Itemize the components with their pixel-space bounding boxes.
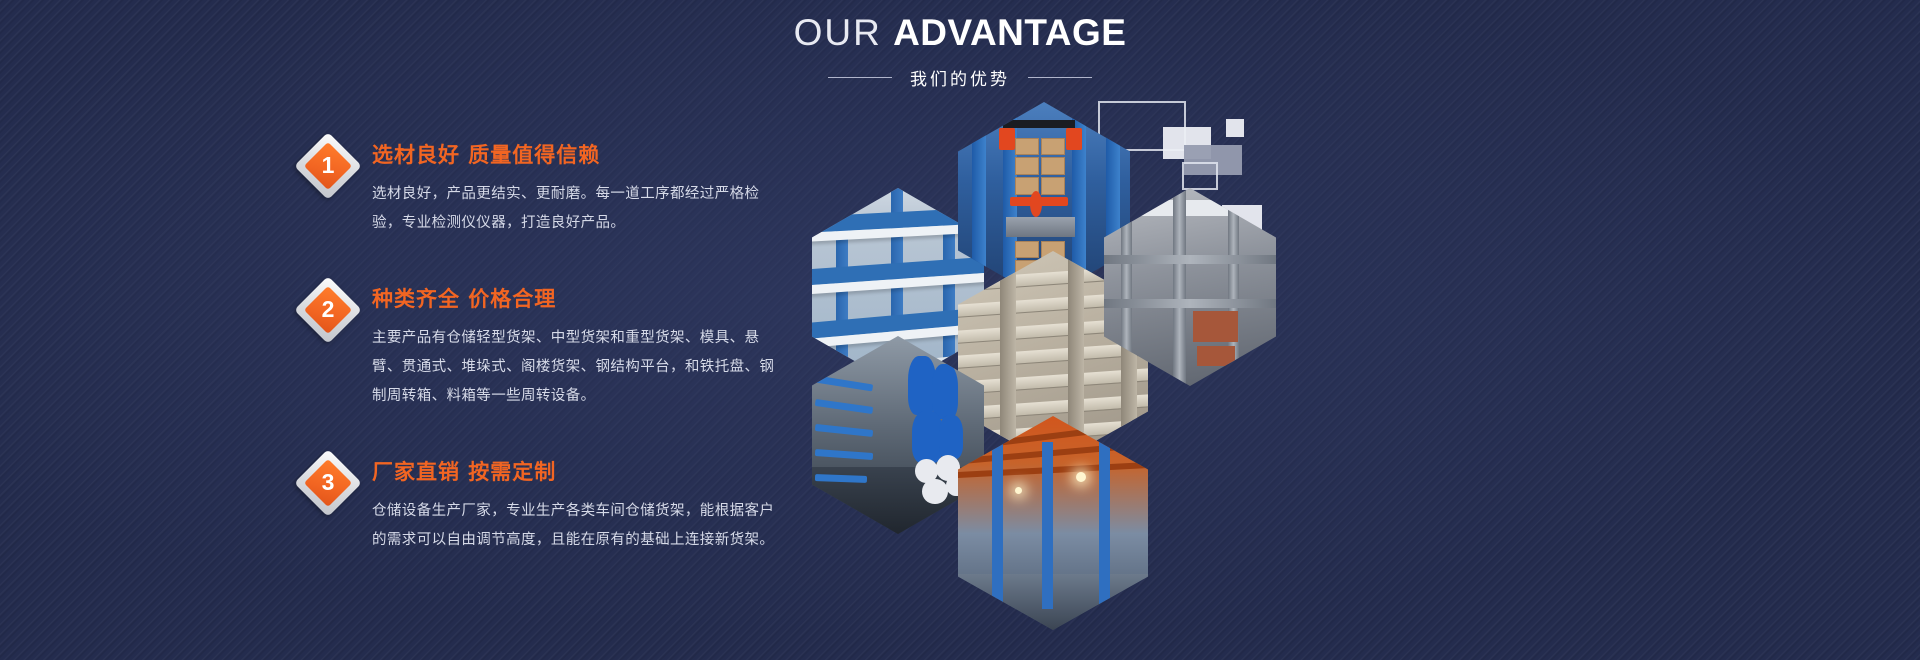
photo-warehouse-interior bbox=[958, 416, 1148, 630]
subtitle-row: 我们的优势 bbox=[0, 65, 1920, 90]
advantage-item-1: 1 选材良好 质量值得信赖 选材良好，产品更结实、更耐磨。每一道工序都经过严格检… bbox=[300, 136, 800, 238]
section-header: OUR ADVANTAGE 我们的优势 bbox=[0, 14, 1920, 90]
subtitle-rule-right bbox=[1028, 77, 1092, 78]
hex-photo-warehouse-interior bbox=[958, 416, 1148, 630]
page-title: OUR ADVANTAGE bbox=[0, 14, 1920, 53]
badge-number: 3 bbox=[300, 455, 356, 511]
page-title-light: OUR bbox=[794, 12, 882, 53]
number-badge-3: 3 bbox=[300, 455, 356, 511]
badge-number: 2 bbox=[300, 282, 356, 338]
advantage-item-3: 3 厂家直销 按需定制 仓储设备生产厂家，专业生产各类车间仓储货架，能根据客户的… bbox=[300, 453, 800, 555]
advantage-body-3: 仓储设备生产厂家，专业生产各类车间仓储货架，能根据客户的需求可以自由调节高度，且… bbox=[372, 497, 777, 555]
advantage-heading-3: 厂家直销 按需定制 bbox=[372, 456, 800, 486]
subtitle-rule-left bbox=[828, 77, 892, 78]
advantage-heading-2: 种类齐全 价格合理 bbox=[372, 283, 800, 313]
advantage-heading-1: 选材良好 质量值得信赖 bbox=[372, 139, 800, 169]
page-subtitle: 我们的优势 bbox=[910, 65, 1010, 90]
advantage-item-2: 2 种类齐全 价格合理 主要产品有仓储轻型货架、中型货架和重型货架、模具、悬臂、… bbox=[300, 280, 800, 411]
badge-number: 1 bbox=[300, 138, 356, 194]
advantage-text-2: 种类齐全 价格合理 主要产品有仓储轻型货架、中型货架和重型货架、模具、悬臂、贯通… bbox=[372, 280, 800, 411]
number-badge-2: 2 bbox=[300, 282, 356, 338]
advantage-text-3: 厂家直销 按需定制 仓储设备生产厂家，专业生产各类车间仓储货架，能根据客户的需求… bbox=[372, 453, 800, 555]
number-badge-1: 1 bbox=[300, 138, 356, 194]
hexagon-photo-cluster bbox=[790, 88, 1210, 548]
advantage-text-1: 选材良好 质量值得信赖 选材良好，产品更结实、更耐磨。每一道工序都经过严格检验，… bbox=[372, 136, 800, 238]
advantage-body-1: 选材良好，产品更结实、更耐磨。每一道工序都经过严格检验，专业检测仪仪器，打造良好… bbox=[372, 180, 777, 238]
decor-square-solid-tiny bbox=[1226, 119, 1244, 137]
advantage-body-2: 主要产品有仓储轻型货架、中型货架和重型货架、模具、悬臂、贯通式、堆垛式、阁楼货架… bbox=[372, 324, 777, 411]
page-title-bold: ADVANTAGE bbox=[893, 12, 1126, 53]
advantage-list: 1 选材良好 质量值得信赖 选材良好，产品更结实、更耐磨。每一道工序都经过严格检… bbox=[300, 136, 800, 555]
